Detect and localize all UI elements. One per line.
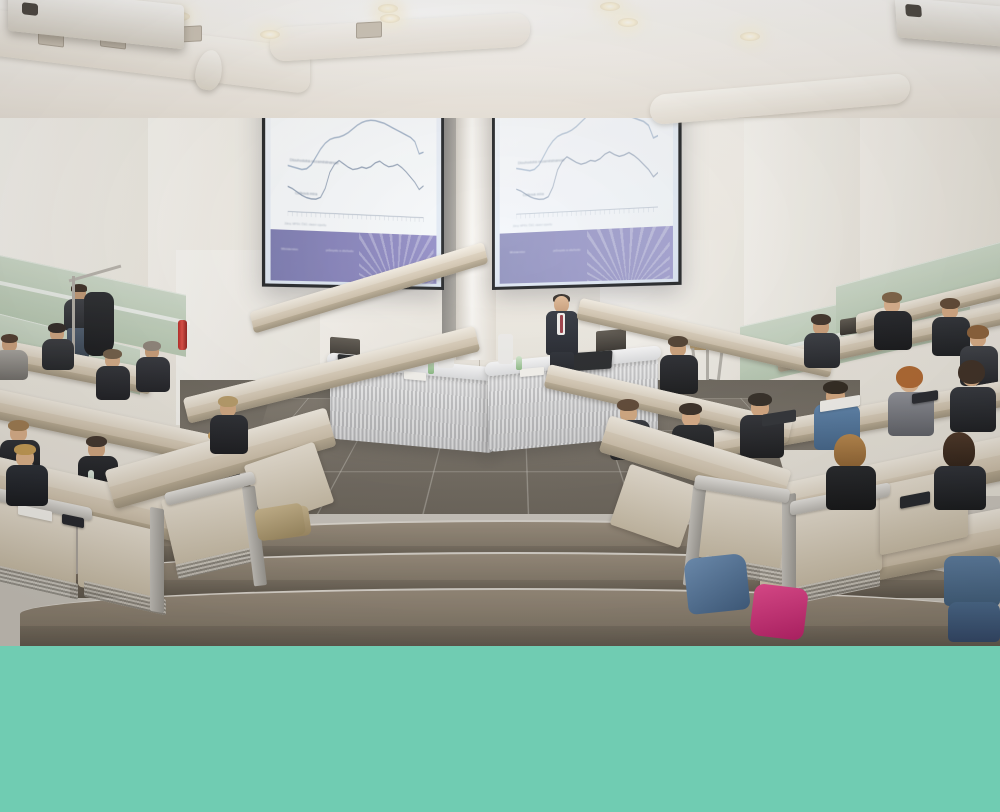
person-torso: [804, 333, 840, 368]
projector-lens-icon: [22, 2, 38, 16]
audience-person: [42, 326, 80, 370]
audience-person: [660, 340, 704, 394]
audience-person: [740, 398, 788, 458]
backpack: [683, 553, 751, 615]
person-hair: [958, 360, 985, 384]
person-hair: [668, 336, 688, 347]
person-torso: [950, 387, 996, 432]
ceiling-downlight: [618, 18, 638, 27]
audience-person: [934, 438, 992, 510]
stage-step: [20, 588, 1000, 646]
person-torso: [210, 415, 248, 454]
person-torso: [826, 466, 876, 510]
person-torso: [944, 556, 1000, 606]
audience-person: [0, 336, 34, 380]
ceiling-downlight: [260, 30, 280, 39]
person-torso: [6, 465, 48, 506]
audience-person: [6, 448, 54, 506]
water-bottle: [516, 356, 522, 370]
person-hair: [748, 393, 772, 406]
ceiling-downlight: [740, 32, 760, 41]
presenter-tie: [560, 315, 563, 333]
audience-person: [950, 366, 1000, 432]
person-hair: [617, 399, 639, 411]
audience-person: [944, 556, 1000, 642]
photo-card: Nezaměstnanost sezónně očištěná míra reg…: [0, 0, 1000, 812]
person-torso: [874, 311, 912, 350]
person-hair: [896, 366, 923, 388]
person-hair: [143, 341, 161, 351]
caption-banner: Official visit by minister of industry a…: [0, 646, 1000, 812]
audience-person: [804, 318, 846, 368]
person-hair: [811, 314, 831, 325]
person-hair: [1, 334, 18, 343]
ceiling: [0, 0, 1000, 118]
audience-person: [136, 344, 176, 392]
person-hair: [882, 292, 902, 303]
audience-person: [210, 400, 254, 454]
ceiling-downlight: [380, 14, 400, 23]
person-hair: [940, 298, 960, 309]
person-torso: [934, 466, 986, 510]
person-torso: [96, 366, 130, 400]
ceiling-vent: [356, 21, 382, 38]
person-hair: [103, 349, 122, 359]
person-hair: [943, 432, 975, 468]
hanging-coat: [84, 292, 114, 356]
ceiling-downlight: [600, 2, 620, 11]
person-torso: [660, 355, 698, 394]
seat-frame-post: [150, 507, 164, 613]
audience-person: [874, 296, 918, 350]
person-hair: [218, 396, 238, 407]
person-hair: [823, 381, 848, 394]
ceiling-downlight: [378, 4, 398, 13]
person-hair: [86, 436, 107, 447]
fire-extinguisher-icon: [178, 320, 187, 350]
person-hair: [834, 434, 866, 468]
lecture-hall-photo: Nezaměstnanost sezónně očištěná míra reg…: [0, 0, 1000, 646]
person-hair: [8, 420, 29, 431]
projector-icon: [895, 0, 1000, 47]
person-hair: [679, 403, 702, 415]
person-torso: [42, 339, 74, 370]
microphone: [498, 334, 513, 364]
audience-person: [826, 440, 882, 510]
audience-person: [96, 352, 136, 400]
person-hair: [14, 444, 36, 455]
audience-person: [888, 372, 938, 436]
person-torso: [0, 350, 28, 380]
pink-bag: [749, 583, 809, 641]
projector-lens-icon: [905, 4, 922, 18]
step-riser: [20, 626, 1000, 646]
person-legs: [948, 602, 1000, 642]
ceiling-soffit: [650, 73, 910, 126]
person-hair: [967, 325, 989, 339]
person-torso: [136, 357, 170, 392]
person-hair: [48, 323, 66, 333]
ceiling-soffit: [270, 12, 530, 62]
